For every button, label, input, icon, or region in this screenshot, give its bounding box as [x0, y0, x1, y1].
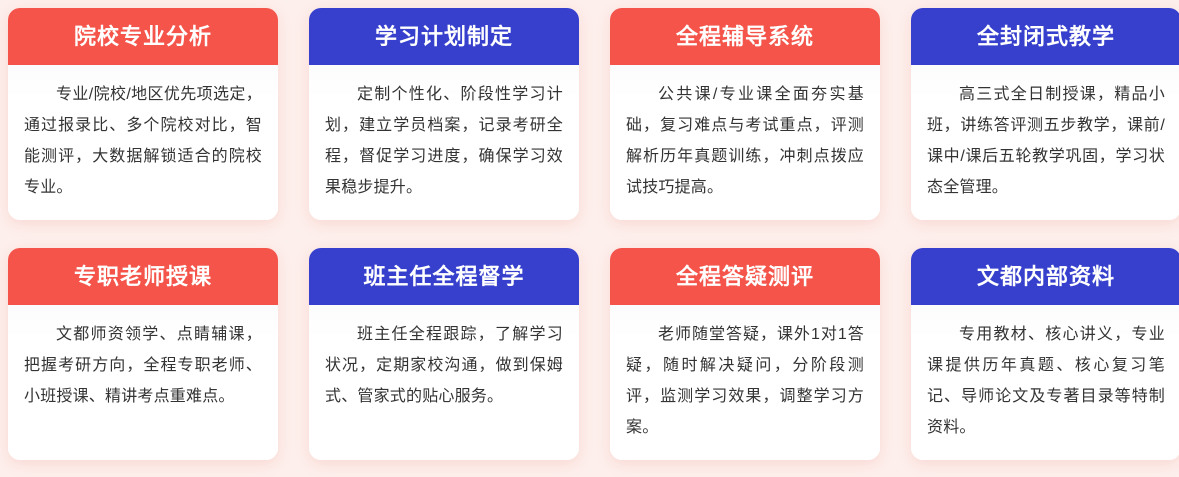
card-description: 公共课/专业课全面夯实基础，复习难点与考试重点，评测解析历年真题训练，冲刺点拨应…: [626, 79, 864, 203]
feature-card[interactable]: 全程辅导系统 公共课/专业课全面夯实基础，复习难点与考试重点，评测解析历年真题训…: [610, 8, 880, 220]
feature-card[interactable]: 专职老师授课 文都师资领学、点睛辅课，把握考研方向，全程专职老师、小班授课、精讲…: [8, 248, 278, 460]
card-body: 专用教材、核心讲义，专业课提供历年真题、核心复习笔记、导师论文及专著目录等特制资…: [911, 305, 1179, 460]
feature-card-grid: 院校专业分析 专业/院校/地区优先项选定，通过报录比、多个院校对比，智能测评，大…: [0, 0, 1179, 460]
card-description: 专业/院校/地区优先项选定，通过报录比、多个院校对比，智能测评，大数据解锁适合的…: [24, 79, 262, 203]
card-body: 班主任全程跟踪，了解学习状况，定期家校沟通，做到保姆式、管家式的贴心服务。: [309, 305, 579, 460]
card-header-title: 班主任全程督学: [309, 248, 579, 305]
card-description: 专用教材、核心讲义，专业课提供历年真题、核心复习笔记、导师论文及专著目录等特制资…: [927, 319, 1165, 443]
card-header-title: 全封闭式教学: [911, 8, 1179, 65]
card-description: 文都师资领学、点睛辅课，把握考研方向，全程专职老师、小班授课、精讲考点重难点。: [24, 319, 262, 412]
feature-card[interactable]: 学习计划制定 定制个性化、阶段性学习计划，建立学员档案，记录考研全程，督促学习进…: [309, 8, 579, 220]
feature-card[interactable]: 全封闭式教学 高三式全日制授课，精品小班，讲练答评测五步教学，课前/课中/课后五…: [911, 8, 1179, 220]
card-body: 老师随堂答疑，课外1对1答疑，随时解决疑问，分阶段测评，监测学习效果，调整学习方…: [610, 305, 880, 460]
feature-card[interactable]: 文都内部资料 专用教材、核心讲义，专业课提供历年真题、核心复习笔记、导师论文及专…: [911, 248, 1179, 460]
feature-card[interactable]: 全程答疑测评 老师随堂答疑，课外1对1答疑，随时解决疑问，分阶段测评，监测学习效…: [610, 248, 880, 460]
card-body: 公共课/专业课全面夯实基础，复习难点与考试重点，评测解析历年真题训练，冲刺点拨应…: [610, 65, 880, 220]
card-body: 定制个性化、阶段性学习计划，建立学员档案，记录考研全程，督促学习进度，确保学习效…: [309, 65, 579, 220]
card-header-title: 专职老师授课: [8, 248, 278, 305]
card-body: 高三式全日制授课，精品小班，讲练答评测五步教学，课前/课中/课后五轮教学巩固，学…: [911, 65, 1179, 220]
card-header-title: 全程辅导系统: [610, 8, 880, 65]
card-header-title: 学习计划制定: [309, 8, 579, 65]
feature-card[interactable]: 班主任全程督学 班主任全程跟踪，了解学习状况，定期家校沟通，做到保姆式、管家式的…: [309, 248, 579, 460]
card-header-title: 院校专业分析: [8, 8, 278, 65]
card-description: 老师随堂答疑，课外1对1答疑，随时解决疑问，分阶段测评，监测学习效果，调整学习方…: [626, 319, 864, 443]
card-description: 班主任全程跟踪，了解学习状况，定期家校沟通，做到保姆式、管家式的贴心服务。: [325, 319, 563, 412]
card-header-title: 文都内部资料: [911, 248, 1179, 305]
card-body: 文都师资领学、点睛辅课，把握考研方向，全程专职老师、小班授课、精讲考点重难点。: [8, 305, 278, 460]
card-body: 专业/院校/地区优先项选定，通过报录比、多个院校对比，智能测评，大数据解锁适合的…: [8, 65, 278, 220]
feature-card[interactable]: 院校专业分析 专业/院校/地区优先项选定，通过报录比、多个院校对比，智能测评，大…: [8, 8, 278, 220]
card-description: 高三式全日制授课，精品小班，讲练答评测五步教学，课前/课中/课后五轮教学巩固，学…: [927, 79, 1165, 203]
card-header-title: 全程答疑测评: [610, 248, 880, 305]
card-description: 定制个性化、阶段性学习计划，建立学员档案，记录考研全程，督促学习进度，确保学习效…: [325, 79, 563, 203]
